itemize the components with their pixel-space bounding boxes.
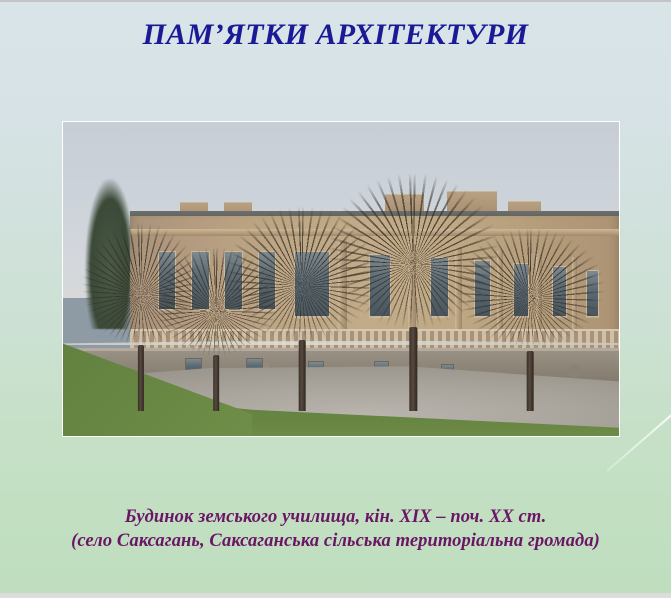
slide-bottom-edge <box>0 593 671 598</box>
photo-canvas <box>63 122 619 436</box>
tree-trunk <box>138 345 144 411</box>
caption-line-1: Будинок земського училища, кін. XIX – по… <box>0 505 671 529</box>
tree-canopy <box>446 207 615 354</box>
photograph <box>62 121 620 437</box>
slide-top-edge <box>0 0 671 2</box>
page-title: ПАМ’ЯТКИ АРХІТЕКТУРИ <box>0 18 671 52</box>
photo-caption: Будинок земського училища, кін. XIX – по… <box>0 505 671 553</box>
tree-trunk <box>410 327 417 411</box>
tree-trunk <box>213 355 219 411</box>
tree-trunk <box>527 351 534 411</box>
caption-line-2: (село Саксагань, Саксаганська сільська т… <box>0 529 671 553</box>
tree-trunk <box>299 340 306 410</box>
bare-tree <box>474 223 585 411</box>
slide: ПАМ’ЯТКИ АРХІТЕКТУРИ <box>0 0 671 598</box>
